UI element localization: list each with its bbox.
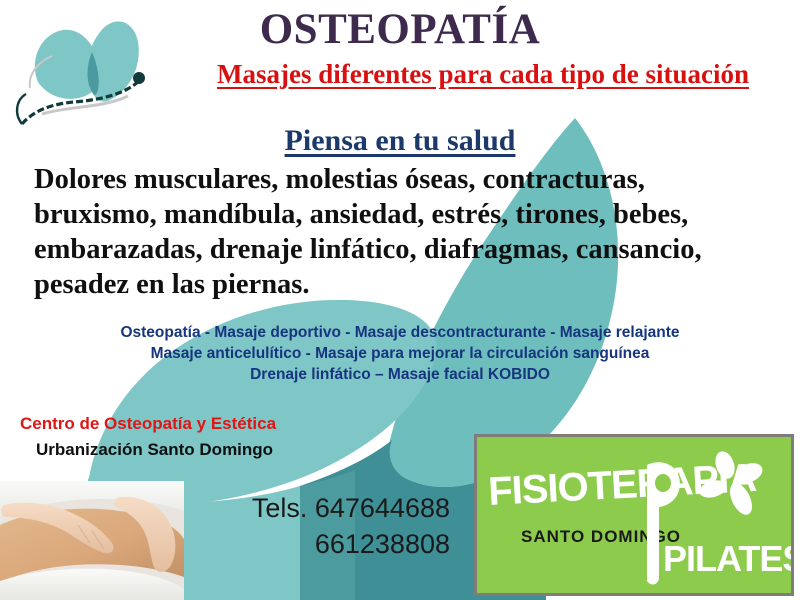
butterfly-shadow-swoosh: [42, 96, 128, 114]
description-line: Dolores musculares, molestias óseas, con…: [34, 162, 782, 197]
logo-artwork: FISIOTERAPIA SANTO DOMINGO PILATES: [477, 437, 794, 596]
description-line: embarazadas, drenaje linfático, diafragm…: [34, 232, 782, 267]
abdominal-massage-photo: [0, 481, 184, 600]
butterfly-head-dot: [133, 72, 145, 84]
phone-numbers[interactable]: Tels. 647644688 661238808: [250, 490, 450, 562]
logo-brand-second: PILATES: [663, 538, 794, 579]
service-line: Osteopatía - Masaje deportivo - Masaje d…: [0, 322, 800, 343]
center-address: Urbanización Santo Domingo: [36, 440, 273, 460]
phone-line-secondary[interactable]: 661238808: [250, 526, 450, 562]
page-title: OSTEOPATÍA: [0, 8, 800, 51]
service-line: Masaje anticelulítico - Masaje para mejo…: [0, 343, 800, 364]
phone-line-primary[interactable]: Tels. 647644688: [250, 490, 450, 526]
center-name: Centro de Osteopatía y Estética: [20, 414, 276, 434]
service-line: Drenaje linfático – Masaje facial KOBIDO: [0, 364, 800, 385]
logo-p-bowl-hole: [655, 474, 671, 492]
services-list: Osteopatía - Masaje deportivo - Masaje d…: [0, 322, 800, 385]
fisioterapia-pilates-logo-box: FISIOTERAPIA SANTO DOMINGO PILATES: [474, 434, 794, 596]
slogan-heading: Piensa en tu salud: [0, 124, 800, 158]
description-line: bruxismo, mandíbula, ansiedad, estrés, t…: [34, 197, 782, 232]
page-subtitle: Masajes diferentes para cada tipo de sit…: [168, 60, 798, 90]
conditions-description: Dolores musculares, molestias óseas, con…: [34, 162, 782, 302]
description-line: pesadez en las piernas.: [34, 267, 782, 302]
osteopathy-promotional-poster: OSTEOPATÍA Masajes diferentes para cada …: [0, 0, 800, 600]
